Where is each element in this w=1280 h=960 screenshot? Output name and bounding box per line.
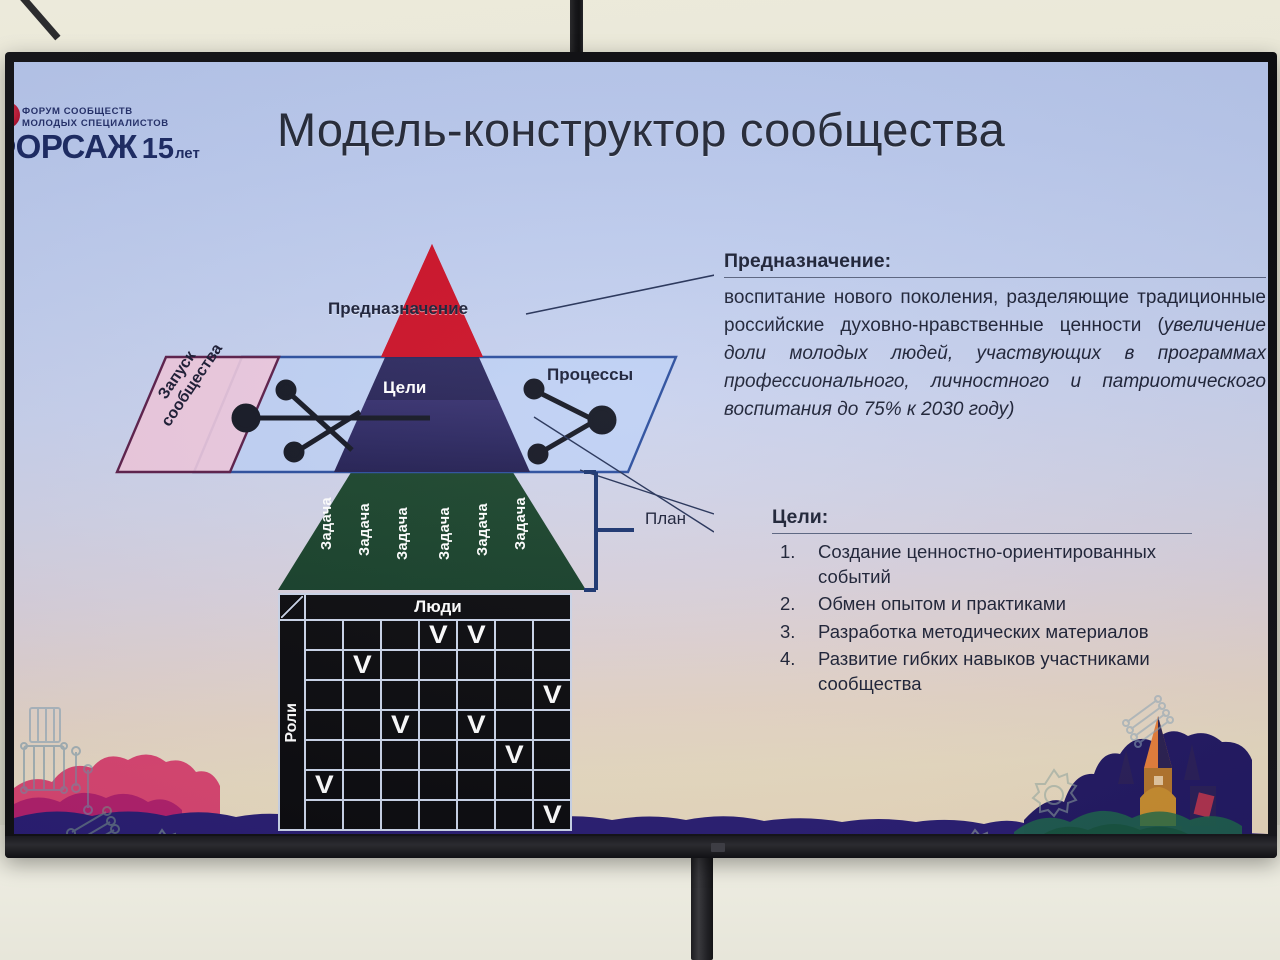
slide-title: Модель-конструктор сообщества (14, 102, 1268, 157)
matrix-cell-r0-c5[interactable] (495, 620, 533, 650)
matrix-cell-r0-c4[interactable]: V (457, 620, 495, 650)
matrix-row: V (279, 740, 571, 770)
matrix-cell-r3-c0[interactable] (305, 710, 343, 740)
matrix-cell-r4-c4[interactable] (457, 740, 495, 770)
checkmark-icon: V (543, 683, 562, 708)
purpose-heading: Предназначение: (724, 250, 1266, 278)
matrix-cell-r2-c3[interactable] (419, 680, 457, 710)
matrix-cell-r0-c0[interactable] (305, 620, 343, 650)
checkmark-icon: V (543, 803, 562, 828)
matrix-corner-cell (279, 594, 305, 620)
matrix-cell-r1-c2[interactable] (381, 650, 419, 680)
goals-panel: Цели: Создание ценностно-ориентированных… (772, 506, 1192, 700)
matrix-header-row: Люди (279, 594, 571, 620)
task-label-2: Задача (357, 503, 373, 556)
matrix-cell-r6-c5[interactable] (495, 800, 533, 830)
matrix-cell-r3-c4[interactable]: V (457, 710, 495, 740)
matrix-cell-r3-c6[interactable] (533, 710, 571, 740)
checkmark-icon: V (315, 773, 334, 798)
matrix-cell-r4-c6[interactable] (533, 740, 571, 770)
matrix-row: V (279, 680, 571, 710)
matrix-cell-r2-c2[interactable] (381, 680, 419, 710)
matrix-cell-r4-c3[interactable] (419, 740, 457, 770)
matrix-cell-r2-c5[interactable] (495, 680, 533, 710)
pyramid-label-purpose: Предназначение (328, 299, 468, 319)
checkmark-icon: V (467, 623, 486, 648)
matrix-cell-r6-c2[interactable] (381, 800, 419, 830)
roles-people-matrix: ЛюдиРолиVVVVVVVVV (278, 593, 572, 831)
matrix-cell-r5-c0[interactable]: V (305, 770, 343, 800)
matrix-row: VV (279, 710, 571, 740)
checkmark-icon: V (467, 713, 486, 738)
tv-stand-pole (691, 848, 713, 960)
matrix-cell-r4-c1[interactable] (343, 740, 381, 770)
matrix-row: V (279, 800, 571, 830)
matrix-cell-r3-c3[interactable] (419, 710, 457, 740)
matrix-cell-r1-c6[interactable] (533, 650, 571, 680)
task-label-6: Задача (513, 497, 529, 550)
checkmark-icon: V (353, 653, 372, 678)
matrix-cell-r5-c4[interactable] (457, 770, 495, 800)
matrix-cell-r6-c3[interactable] (419, 800, 457, 830)
matrix-cell-r1-c5[interactable] (495, 650, 533, 680)
room-background: ФОРУМ СООБЩЕСТВ МОЛОДЫХ СПЕЦИАЛИСТОВ ФОР… (0, 0, 1280, 960)
matrix-cell-r5-c6[interactable] (533, 770, 571, 800)
matrix-cell-r3-c2[interactable]: V (381, 710, 419, 740)
matrix-cell-r6-c4[interactable] (457, 800, 495, 830)
gear-outline-icon-4 (1014, 762, 1088, 824)
television-display: ФОРУМ СООБЩЕСТВ МОЛОДЫХ СПЕЦИАЛИСТОВ ФОР… (5, 52, 1277, 858)
pyramid-label-goals: Цели (383, 378, 426, 398)
presentation-slide: ФОРУМ СООБЩЕСТВ МОЛОДЫХ СПЕЦИАЛИСТОВ ФОР… (14, 62, 1268, 834)
community-model-diagram: Предназначение Цели Процессы План Запуск… (14, 62, 714, 834)
gear-outline-icon-3 (939, 822, 1009, 834)
matrix-row: РолиVV (279, 620, 571, 650)
task-label-4: Задача (437, 507, 453, 560)
matrix-cell-r4-c2[interactable] (381, 740, 419, 770)
tv-brand-logo (711, 843, 725, 852)
matrix-cell-r5-c1[interactable] (343, 770, 381, 800)
matrix-cell-r5-c3[interactable] (419, 770, 457, 800)
matrix-table: ЛюдиРолиVVVVVVVVV (278, 593, 572, 831)
matrix-cell-r1-c0[interactable] (305, 650, 343, 680)
matrix-cell-r3-c5[interactable] (495, 710, 533, 740)
plane-label-processes: Процессы (547, 365, 633, 385)
goal-item-3: Разработка методических материалов (772, 620, 1192, 645)
matrix-cell-r5-c2[interactable] (381, 770, 419, 800)
springs-outline-icon (1119, 692, 1179, 748)
matrix-cell-r0-c1[interactable] (343, 620, 381, 650)
matrix-cell-r1-c3[interactable] (419, 650, 457, 680)
matrix-cell-r1-c1[interactable]: V (343, 650, 381, 680)
task-label-1: Задача (319, 497, 335, 550)
task-label-5: Задача (475, 503, 491, 556)
matrix-rows-header: Роли (279, 620, 305, 830)
purpose-panel: Предназначение: воспитание нового поколе… (724, 250, 1266, 424)
matrix-cell-r2-c6[interactable]: V (533, 680, 571, 710)
goals-list: Создание ценностно-ориентированных событ… (772, 540, 1192, 697)
matrix-columns-header: Люди (305, 594, 571, 620)
checkmark-icon: V (505, 743, 524, 768)
matrix-cell-r2-c4[interactable] (457, 680, 495, 710)
matrix-cell-r2-c1[interactable] (343, 680, 381, 710)
checkmark-icon: V (391, 713, 410, 738)
matrix-cell-r0-c6[interactable] (533, 620, 571, 650)
task-label-3: Задача (395, 507, 411, 560)
matrix-cell-r0-c2[interactable] (381, 620, 419, 650)
matrix-cell-r6-c6[interactable]: V (533, 800, 571, 830)
matrix-cell-r2-c0[interactable] (305, 680, 343, 710)
goals-heading: Цели: (772, 506, 1192, 534)
matrix-cell-r6-c0[interactable] (305, 800, 343, 830)
goal-item-1: Создание ценностно-ориентированных событ… (772, 540, 1192, 589)
bracket-label-plan: План (645, 509, 686, 529)
ceiling-mount-rod (8, 0, 155, 40)
goal-item-2: Обмен опытом и практиками (772, 592, 1192, 617)
goal-item-4: Развитие гибких навыков участниками сооб… (772, 647, 1192, 696)
matrix-row: V (279, 770, 571, 800)
matrix-cell-r4-c5[interactable]: V (495, 740, 533, 770)
matrix-cell-r5-c5[interactable] (495, 770, 533, 800)
checkmark-icon: V (429, 623, 448, 648)
matrix-cell-r6-c1[interactable] (343, 800, 381, 830)
matrix-cell-r0-c3[interactable]: V (419, 620, 457, 650)
matrix-cell-r4-c0[interactable] (305, 740, 343, 770)
purpose-body: воспитание нового поколения, разделяющие… (724, 284, 1266, 424)
matrix-row: V (279, 650, 571, 680)
matrix-cell-r3-c1[interactable] (343, 710, 381, 740)
matrix-cell-r1-c4[interactable] (457, 650, 495, 680)
